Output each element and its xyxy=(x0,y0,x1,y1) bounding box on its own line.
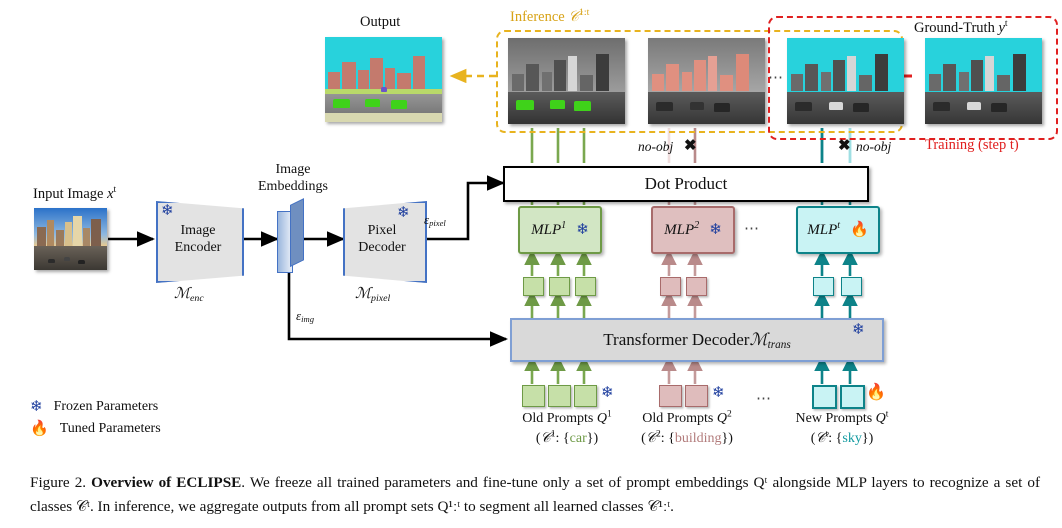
image-embeddings-label: Image Embeddings xyxy=(243,161,343,195)
input-image-label: Input Image xt xyxy=(33,186,116,203)
output-label: Output xyxy=(360,14,400,31)
token-g-1 xyxy=(523,277,544,296)
mlp-block-2[interactable]: MLP2 ❄ xyxy=(651,206,735,254)
mlp-2-label: MLP2 xyxy=(664,222,699,239)
token-c-2 xyxy=(841,277,862,296)
prompt-group-3-caption: New Prompts Qt (𝒞t: {sky}) xyxy=(762,409,922,449)
no-obj-right-label: no-obj xyxy=(856,139,891,155)
inference-image-1 xyxy=(508,38,625,124)
legend-tuned-label: Tuned Parameters xyxy=(60,421,161,437)
prompt-group-2-caption: Old Prompts Q2 (𝒞2: {building}) xyxy=(607,409,767,449)
snowflake-icon: ❄ xyxy=(712,386,725,401)
flame-icon: 🔥 xyxy=(30,422,49,437)
inference-image-2 xyxy=(648,38,765,124)
cross-icon: ✖ xyxy=(838,136,851,155)
transformer-decoder-block[interactable]: Transformer Decoderℳtrans xyxy=(510,318,884,362)
ground-truth-label: Ground-Truth yt xyxy=(914,20,1008,37)
prompt-c-1[interactable] xyxy=(812,385,837,409)
flame-icon: 🔥 xyxy=(866,385,886,401)
caption-title: Overview of ECLIPSE xyxy=(91,474,241,491)
snowflake-icon: ❄ xyxy=(161,204,174,219)
snowflake-icon: ❄ xyxy=(852,323,865,338)
transformer-decoder-label: Transformer Decoderℳtrans xyxy=(603,330,790,350)
mlp-block-1[interactable]: MLP1 ❄ xyxy=(518,206,602,254)
snowflake-icon: ❄ xyxy=(397,206,410,221)
prompt-c-2[interactable] xyxy=(840,385,865,409)
training-label: Training (step t) xyxy=(925,137,1019,154)
prompt-ellipsis: ⋯ xyxy=(756,389,773,408)
mlp-1-label: MLP1 xyxy=(531,222,566,239)
m-pixel-label: ℳpixel xyxy=(355,284,390,303)
legend-item-frozen: ❄ Frozen Parameters xyxy=(30,396,161,418)
eps-pixel-label: εpixel xyxy=(424,212,446,228)
inference-label: Inference 𝒞1:t xyxy=(510,9,589,26)
prompt-g-1[interactable] xyxy=(522,385,545,407)
legend: ❄ Frozen Parameters 🔥 Tuned Parameters xyxy=(30,396,161,440)
figure-caption: Figure 2. Overview of ECLIPSE. We freeze… xyxy=(30,471,1040,519)
image-embeddings-bar xyxy=(277,205,303,271)
output-image-photo xyxy=(325,37,442,122)
token-g-2 xyxy=(549,277,570,296)
snowflake-icon: ❄ xyxy=(709,223,722,238)
cross-icon: ✖ xyxy=(684,136,697,155)
eps-img-label: εimg xyxy=(296,308,314,324)
class-name-sky: sky xyxy=(842,431,861,446)
caption-figure-number: Figure 2. xyxy=(30,474,86,491)
figure-canvas: Input Image xt Image Encoder ❄ ℳenc Imag… xyxy=(0,0,1062,528)
flame-icon: 🔥 xyxy=(850,223,869,238)
legend-frozen-label: Frozen Parameters xyxy=(54,399,159,415)
class-name-building: building xyxy=(675,431,722,446)
prompt-g-2[interactable] xyxy=(548,385,571,407)
prompt-g-3[interactable] xyxy=(574,385,597,407)
token-r-2 xyxy=(686,277,707,296)
ground-truth-image xyxy=(925,38,1042,124)
pixel-decoder-label: Pixel Decoder xyxy=(347,222,417,256)
mlp-block-t[interactable]: MLPt 🔥 xyxy=(796,206,880,254)
token-r-1 xyxy=(660,277,681,296)
class-name-car: car xyxy=(570,431,587,446)
snowflake-icon: ❄ xyxy=(576,223,589,238)
prompt-r-2[interactable] xyxy=(685,385,708,407)
image-encoder-label: Image Encoder xyxy=(163,222,233,256)
input-image-photo xyxy=(34,208,107,270)
mlp-t-label: MLPt xyxy=(807,222,840,239)
no-obj-left-label: no-obj xyxy=(638,139,673,155)
m-enc-label: ℳenc xyxy=(174,284,204,303)
prompt-r-1[interactable] xyxy=(659,385,682,407)
token-c-1 xyxy=(813,277,834,296)
snowflake-icon: ❄ xyxy=(30,400,43,415)
dot-product-label: Dot Product xyxy=(645,174,728,194)
legend-item-tuned: 🔥 Tuned Parameters xyxy=(30,418,161,440)
token-g-3 xyxy=(575,277,596,296)
snowflake-icon: ❄ xyxy=(601,386,614,401)
dot-product-block[interactable]: Dot Product xyxy=(503,166,869,202)
mlp-ellipsis: ⋯ xyxy=(744,219,761,238)
